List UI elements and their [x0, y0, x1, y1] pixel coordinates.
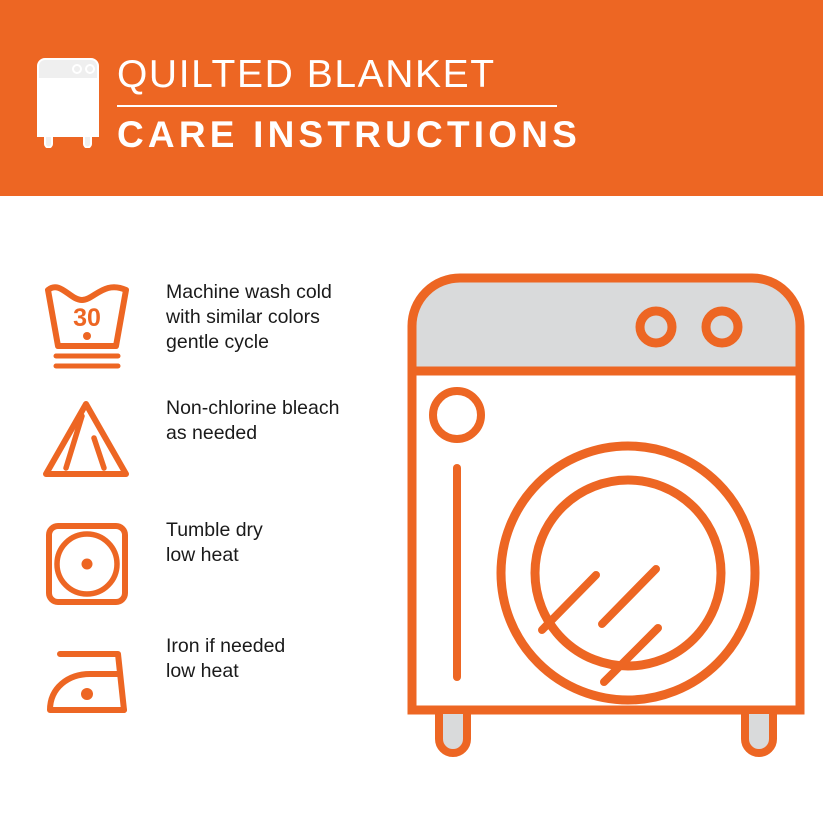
care-text-line: low heat [166, 659, 398, 684]
care-instruction-text: Tumble dry low heat [166, 518, 398, 568]
indicator-circle [433, 391, 481, 439]
wash-temperature-value: 30 [73, 304, 101, 332]
tumble-dry-low-heat-icon [38, 516, 142, 612]
care-text-line: Tumble dry [166, 518, 398, 543]
care-instructions-page: QUILTED BLANKET CARE INSTRUCTIONS 30 [0, 0, 823, 823]
wash-tub-30-gentle-icon: 30 [38, 278, 142, 374]
care-text-line: as needed [166, 421, 398, 446]
care-text-line: Machine wash cold [166, 280, 398, 305]
care-text-line: Iron if needed [166, 634, 398, 659]
page-subtitle: CARE INSTRUCTIONS [117, 114, 577, 156]
header-banner: QUILTED BLANKET CARE INSTRUCTIONS [0, 0, 823, 196]
care-instruction-row: Non-chlorine bleach as needed [0, 394, 400, 510]
door-inner-ring [535, 480, 721, 666]
leg-right [745, 710, 773, 753]
front-load-washing-machine-illustration [406, 272, 806, 760]
care-instruction-row: Tumble dry low heat [0, 516, 400, 632]
care-instruction-row: Iron if needed low heat [0, 632, 400, 748]
washing-machine-icon [33, 52, 107, 148]
care-instruction-text: Iron if needed low heat [166, 634, 398, 684]
care-text-line: low heat [166, 543, 398, 568]
page-title: QUILTED BLANKET [117, 52, 577, 98]
header-divider [117, 105, 557, 107]
care-text-line: gentle cycle [166, 330, 398, 355]
iron-low-heat-icon [38, 632, 142, 728]
care-text-line: with similar colors [166, 305, 398, 330]
care-instruction-text: Machine wash cold with similar colors ge… [166, 280, 398, 355]
care-instruction-text: Non-chlorine bleach as needed [166, 396, 398, 446]
leg-left [439, 710, 467, 753]
care-instruction-row: 30 Machine wash cold with similar colors… [0, 278, 400, 394]
header-text-block: QUILTED BLANKET CARE INSTRUCTIONS [117, 52, 577, 156]
non-chlorine-bleach-triangle-icon [38, 394, 142, 490]
care-text-line: Non-chlorine bleach [166, 396, 398, 421]
